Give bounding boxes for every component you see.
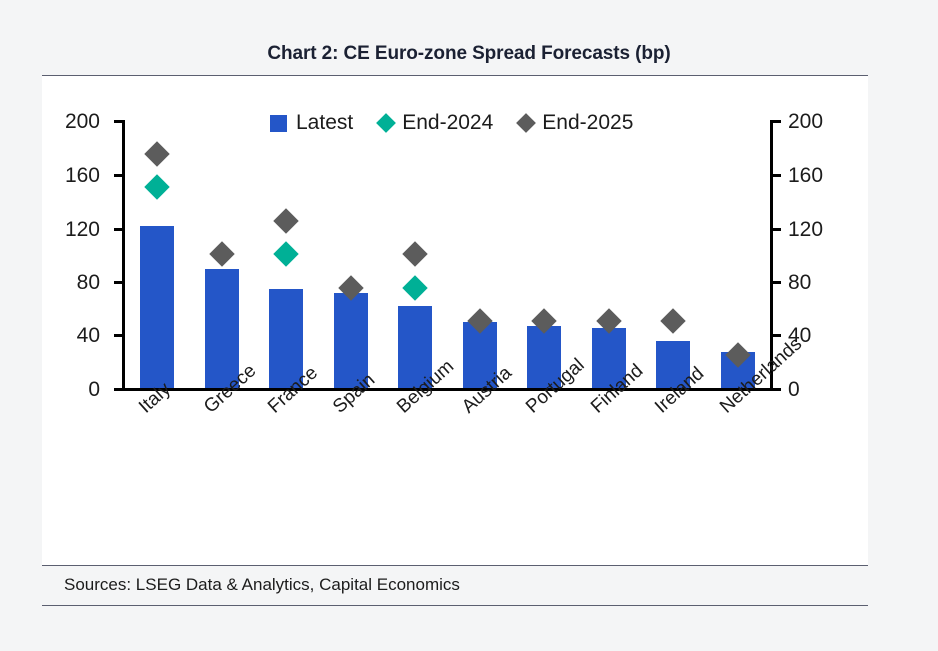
y-label-left-0: 0 (10, 379, 100, 400)
divider-middle (42, 565, 868, 566)
bar-italy (140, 226, 174, 388)
legend-label-end-2025: End-2025 (542, 111, 633, 135)
y-tick-left-40 (114, 334, 122, 337)
chart-legend: Latest End-2024 End-2025 (270, 111, 633, 135)
y-tick-right-80 (773, 281, 781, 284)
y-tick-left-0 (114, 388, 122, 391)
y-label-right-120: 120 (788, 219, 878, 240)
y-label-right-80: 80 (788, 272, 878, 293)
y-tick-right-120 (773, 228, 781, 231)
y-tick-left-160 (114, 174, 122, 177)
y-tick-left-80 (114, 281, 122, 284)
legend-item-end-2025[interactable]: End-2025 (519, 111, 633, 135)
legend-label-end-2024: End-2024 (402, 111, 493, 135)
y-label-left-200: 200 (10, 111, 100, 132)
chart-title: Chart 2: CE Euro-zone Spread Forecasts (… (0, 43, 938, 65)
divider-bottom (42, 605, 868, 606)
y-axis-left (122, 120, 125, 390)
legend-swatch-diamond-icon (516, 113, 536, 133)
y-label-right-160: 160 (788, 165, 878, 186)
y-label-left-160: 160 (10, 165, 100, 186)
y-tick-left-120 (114, 228, 122, 231)
source-note: Sources: LSEG Data & Analytics, Capital … (64, 575, 460, 595)
y-tick-right-40 (773, 334, 781, 337)
y-tick-left-200 (114, 120, 122, 123)
y-tick-right-200 (773, 120, 781, 123)
y-label-left-120: 120 (10, 219, 100, 240)
y-label-left-40: 40 (10, 325, 100, 346)
legend-swatch-square-icon (270, 115, 287, 132)
legend-label-latest: Latest (296, 111, 353, 135)
legend-swatch-diamond-icon (376, 113, 396, 133)
legend-item-latest[interactable]: Latest (270, 111, 353, 135)
legend-item-end-2024[interactable]: End-2024 (379, 111, 493, 135)
y-label-right-0: 0 (788, 379, 878, 400)
y-tick-right-160 (773, 174, 781, 177)
chart-figure: Chart 2: CE Euro-zone Spread Forecasts (… (0, 0, 938, 651)
y-tick-right-0 (773, 388, 781, 391)
y-label-right-200: 200 (788, 111, 878, 132)
y-label-left-80: 80 (10, 272, 100, 293)
